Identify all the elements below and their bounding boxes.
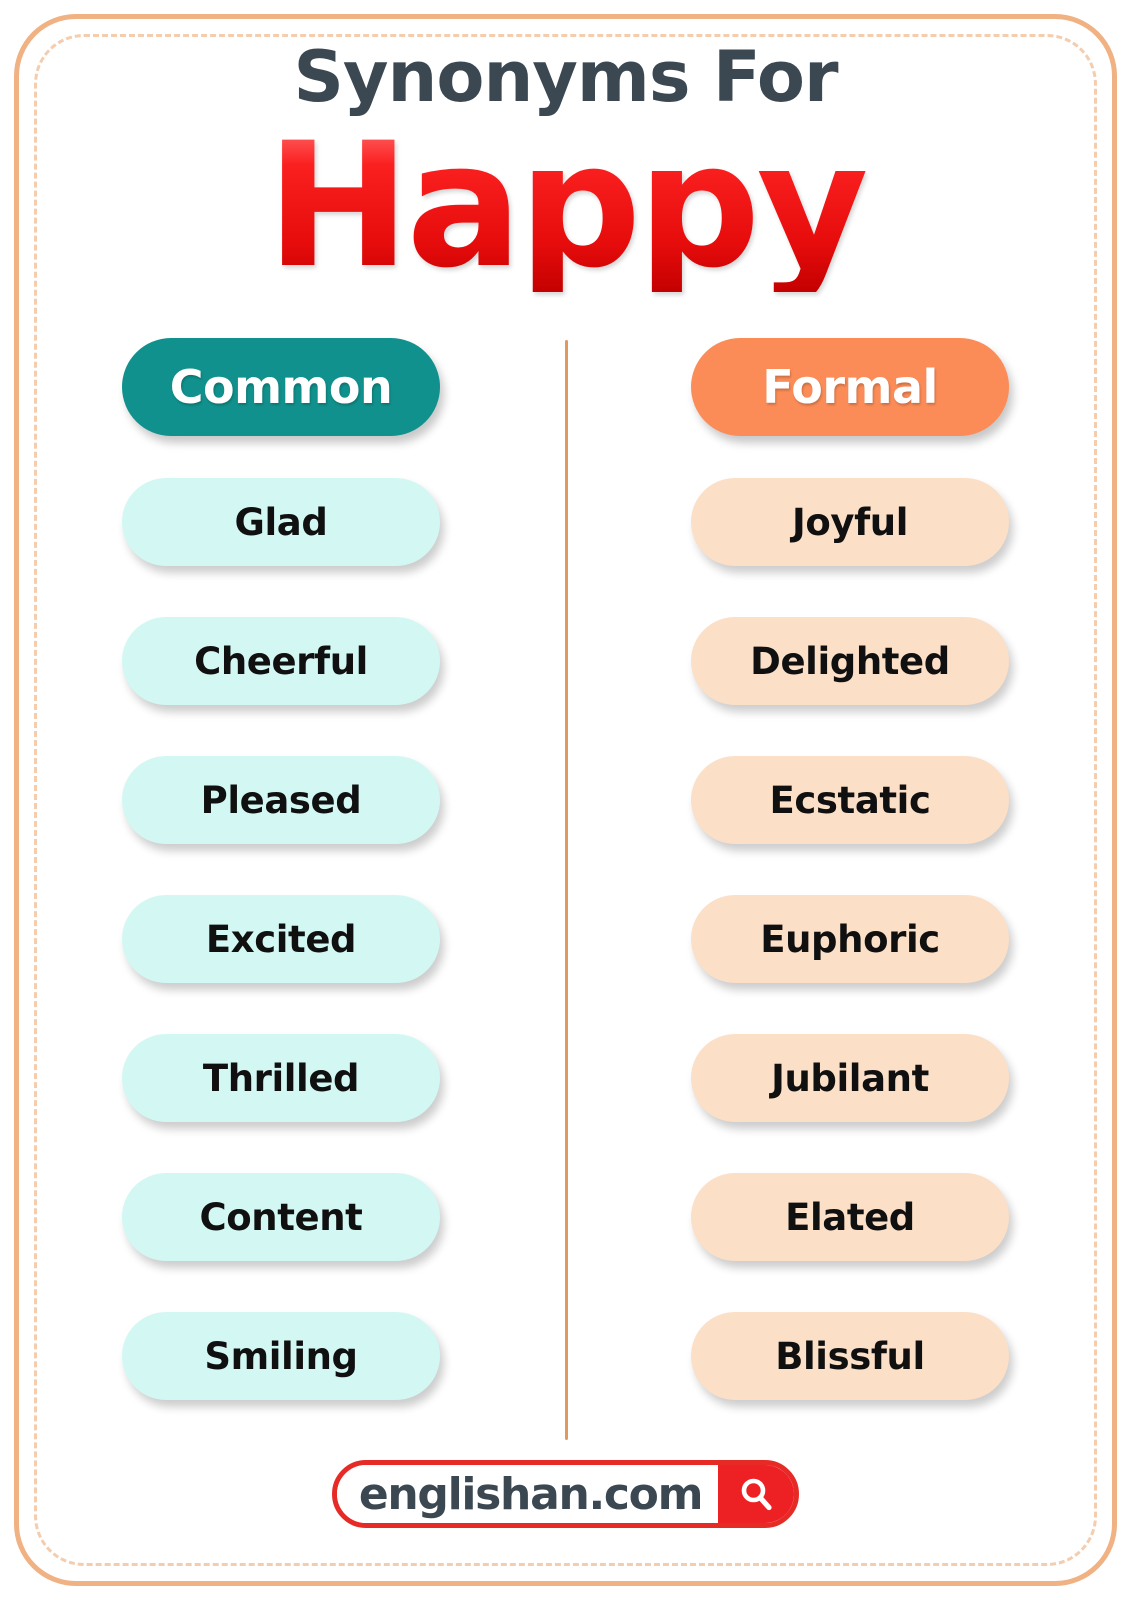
- column-header-formal: Formal: [691, 338, 1009, 436]
- word-pill-formal-1: Joyful: [691, 478, 1009, 566]
- word-pill-formal-4: Euphoric: [691, 895, 1009, 983]
- page-subtitle: Synonyms For: [0, 42, 1131, 112]
- column-formal: Formal Joyful Delighted Ecstatic Euphori…: [691, 338, 1009, 1400]
- column-header-common: Common: [122, 338, 440, 436]
- word-pill-common-4: Excited: [122, 895, 440, 983]
- word-pill-common-7: Smiling: [122, 1312, 440, 1400]
- word-pill-formal-5: Jubilant: [691, 1034, 1009, 1122]
- site-logo-text: englishan.com: [337, 1465, 718, 1523]
- word-pill-formal-7: Blissful: [691, 1312, 1009, 1400]
- word-pill-common-3: Pleased: [122, 756, 440, 844]
- word-pill-common-1: Glad: [122, 478, 440, 566]
- word-pill-formal-2: Delighted: [691, 617, 1009, 705]
- search-icon[interactable]: [718, 1465, 794, 1523]
- column-common: Common Glad Cheerful Pleased Excited Thr…: [122, 338, 440, 1400]
- columns-container: Common Glad Cheerful Pleased Excited Thr…: [0, 338, 1131, 1400]
- poster-canvas: Synonyms For Happy Common Glad Cheerful …: [0, 0, 1131, 1600]
- footer: englishan.com: [0, 1460, 1131, 1528]
- word-pill-common-2: Cheerful: [122, 617, 440, 705]
- word-pill-common-5: Thrilled: [122, 1034, 440, 1122]
- word-pill-formal-3: Ecstatic: [691, 756, 1009, 844]
- title-block: Synonyms For: [0, 42, 1131, 112]
- word-pill-formal-6: Elated: [691, 1173, 1009, 1261]
- word-pill-common-6: Content: [122, 1173, 440, 1261]
- site-logo[interactable]: englishan.com: [332, 1460, 799, 1528]
- page-title: Happy: [0, 120, 1131, 292]
